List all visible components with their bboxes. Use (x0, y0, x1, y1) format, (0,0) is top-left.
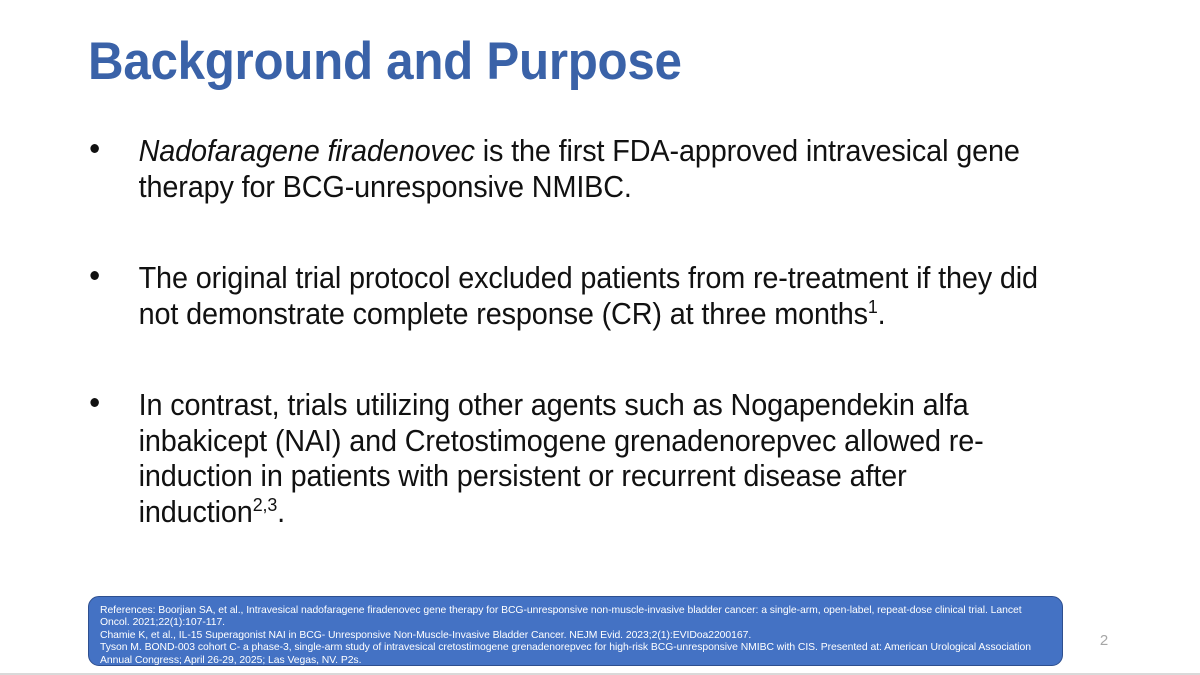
bullet-1-emphasis: Nadofaragene firadenovec (139, 134, 475, 168)
references-box: References: Boorjian SA, et al., Intrave… (88, 596, 1063, 666)
reference-line-3: Tyson M. BOND-003 cohort C- a phase-3, s… (100, 642, 1051, 667)
slide-number: 2 (1092, 632, 1116, 649)
bullet-item-1: Nadofaragene firadenovec is the first FD… (80, 134, 1053, 205)
bullet-marker-icon (90, 271, 99, 280)
bullet-2-superscript: 1 (868, 296, 878, 317)
slide-body: Nadofaragene firadenovec is the first FD… (80, 134, 1110, 530)
bullet-marker-icon (90, 144, 99, 153)
bullet-item-3: In contrast, trials utilizing other agen… (80, 388, 1053, 530)
bullet-item-2: The original trial protocol excluded pat… (80, 261, 1053, 332)
bullet-marker-icon (90, 398, 99, 407)
reference-line-1: References: Boorjian SA, et al., Intrave… (100, 605, 1051, 630)
bullet-text-2: The original trial protocol excluded pat… (139, 261, 1054, 332)
bullet-2-tail: . (878, 297, 886, 331)
reference-line-2: Chamie K, et al., IL-15 Superagonist NAI… (100, 630, 1051, 642)
bullet-3-tail: . (277, 495, 285, 529)
presentation-slide: Background and Purpose Nadofaragene fira… (0, 0, 1200, 675)
bullet-text-1: Nadofaragene firadenovec is the first FD… (139, 134, 1054, 205)
bullet-2-rest: The original trial protocol excluded pat… (139, 261, 1038, 331)
bullet-text-3: In contrast, trials utilizing other agen… (139, 388, 1054, 530)
bullet-3-superscript: 2,3 (253, 495, 277, 516)
page-title: Background and Purpose (88, 33, 1037, 90)
